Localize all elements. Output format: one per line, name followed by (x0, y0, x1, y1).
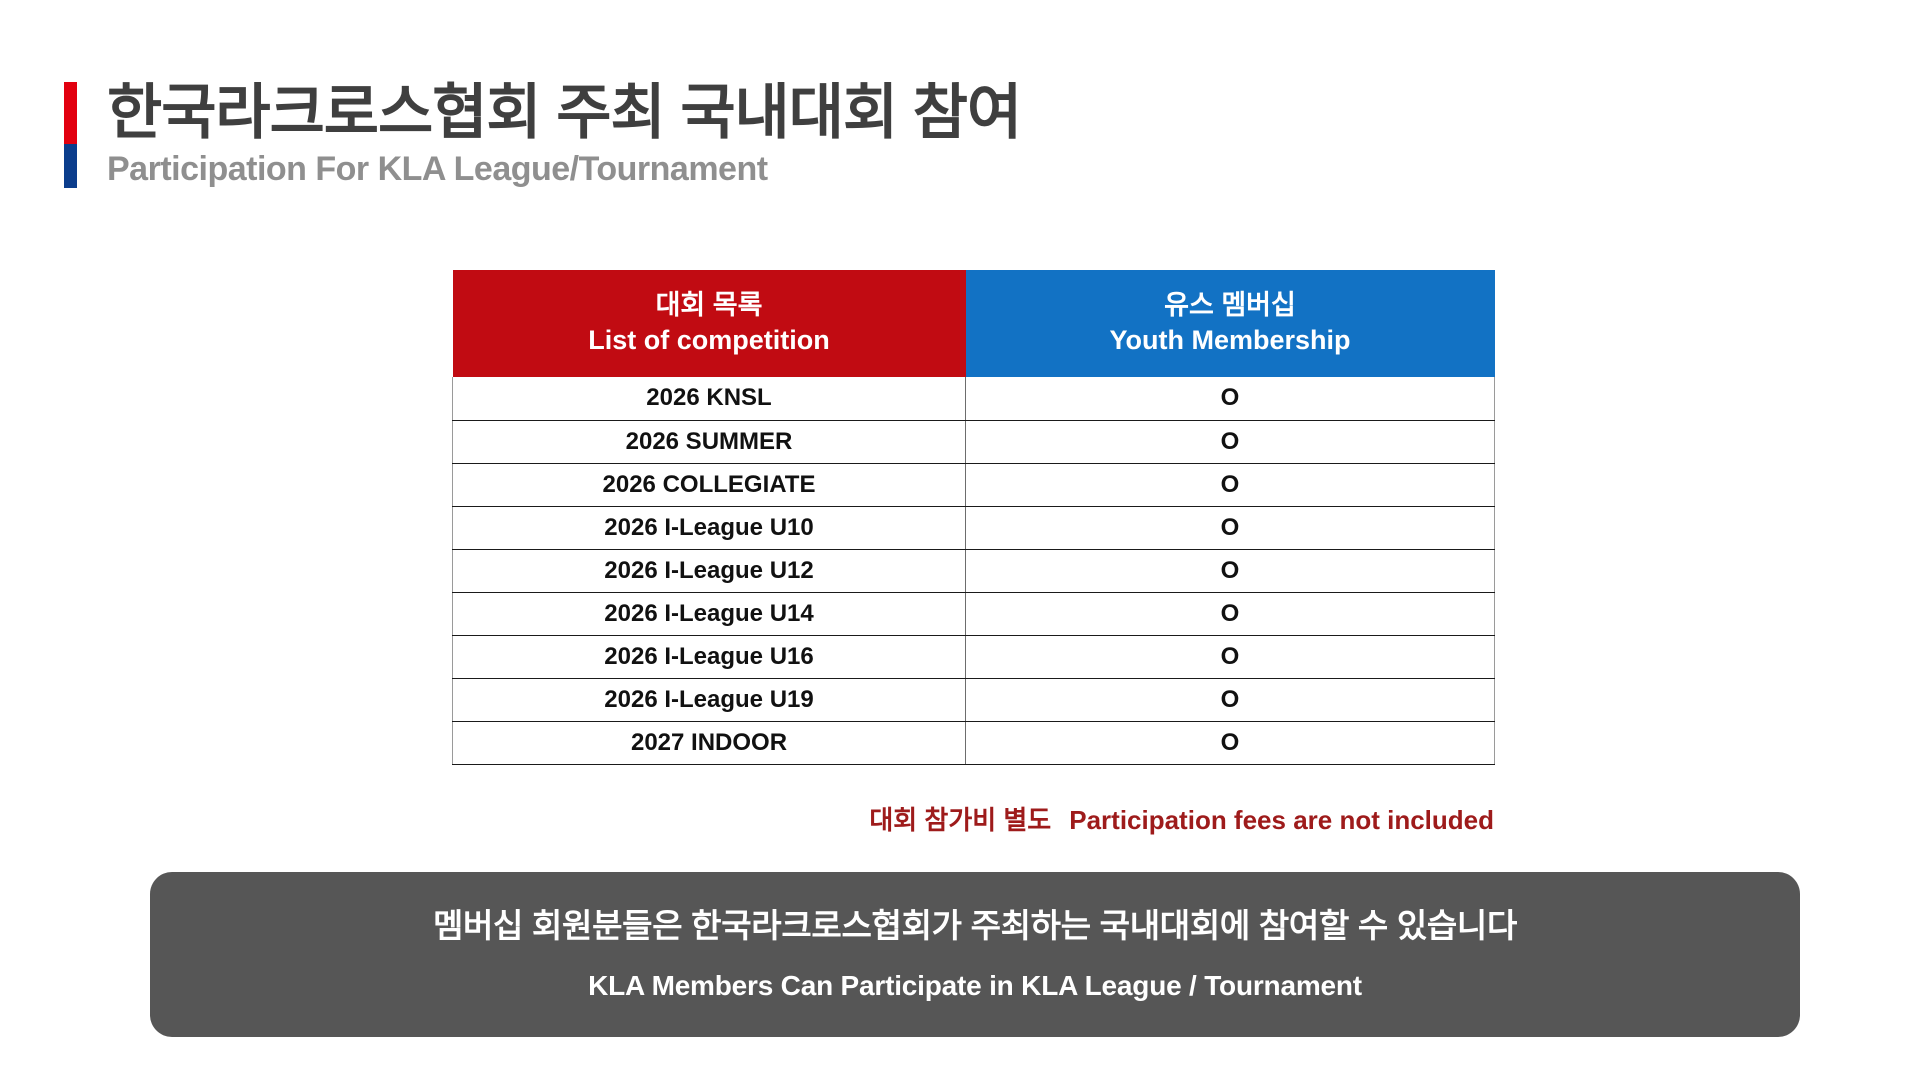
cell-youth-membership: O (966, 678, 1495, 721)
cell-competition: 2027 INDOOR (453, 721, 966, 764)
cell-competition: 2026 KNSL (453, 377, 966, 420)
table-row: 2027 INDOORO (453, 721, 1495, 764)
column-header-competition-ko: 대회 목록 (457, 288, 962, 323)
cell-competition: 2026 I-League U14 (453, 592, 966, 635)
column-header-youth-ko: 유스 멤버십 (970, 288, 1491, 323)
cell-youth-membership: O (966, 721, 1495, 764)
table-header-row: 대회 목록 List of competition 유스 멤버십 Youth M… (453, 270, 1495, 377)
cell-competition: 2026 I-League U16 (453, 635, 966, 678)
cell-competition: 2026 I-League U19 (453, 678, 966, 721)
page-subtitle: Participation For KLA League/Tournament (107, 152, 1021, 188)
cell-youth-membership: O (966, 549, 1495, 592)
footer-banner: 멤버십 회원분들은 한국라크로스협회가 주최하는 국내대회에 참여할 수 있습니… (150, 872, 1800, 1037)
cell-youth-membership: O (966, 506, 1495, 549)
footer-message-en: KLA Members Can Participate in KLA Leagu… (588, 969, 1362, 1003)
cell-youth-membership: O (966, 420, 1495, 463)
column-header-competition-en: List of competition (457, 323, 962, 358)
competition-table: 대회 목록 List of competition 유스 멤버십 Youth M… (452, 270, 1495, 765)
footnote: 대회 참가비 별도Participation fees are not incl… (452, 800, 1494, 837)
slide-title-block: 한국라크로스협회 주최 국내대회 참여 Participation For KL… (64, 82, 1021, 188)
cell-competition: 2026 COLLEGIATE (453, 463, 966, 506)
table-row: 2026 I-League U16O (453, 635, 1495, 678)
cell-youth-membership: O (966, 592, 1495, 635)
table-row: 2026 SUMMERO (453, 420, 1495, 463)
column-header-competition: 대회 목록 List of competition (453, 270, 966, 377)
footnote-en: Participation fees are not included (1069, 805, 1494, 835)
table-row: 2026 I-League U19O (453, 678, 1495, 721)
page-title: 한국라크로스협회 주최 국내대회 참여 (107, 82, 1021, 143)
column-header-youth-en: Youth Membership (970, 323, 1491, 358)
table-row: 2026 KNSLO (453, 377, 1495, 420)
table-row: 2026 COLLEGIATEO (453, 463, 1495, 506)
cell-youth-membership: O (966, 377, 1495, 420)
footer-message-ko: 멤버십 회원분들은 한국라크로스협회가 주최하는 국내대회에 참여할 수 있습니… (433, 906, 1517, 946)
title-accent-bar (64, 82, 77, 188)
accent-bar-red-segment (64, 82, 77, 144)
cell-youth-membership: O (966, 463, 1495, 506)
footnote-ko: 대회 참가비 별도 (869, 805, 1051, 835)
cell-youth-membership: O (966, 635, 1495, 678)
table-row: 2026 I-League U10O (453, 506, 1495, 549)
cell-competition: 2026 SUMMER (453, 420, 966, 463)
competition-table-container: 대회 목록 List of competition 유스 멤버십 Youth M… (452, 270, 1494, 765)
cell-competition: 2026 I-League U12 (453, 549, 966, 592)
cell-competition: 2026 I-League U10 (453, 506, 966, 549)
table-body: 2026 KNSLO2026 SUMMERO2026 COLLEGIATEO20… (453, 377, 1495, 764)
table-row: 2026 I-League U14O (453, 592, 1495, 635)
accent-bar-blue-segment (64, 144, 77, 188)
column-header-youth-membership: 유스 멤버십 Youth Membership (966, 270, 1495, 377)
table-header: 대회 목록 List of competition 유스 멤버십 Youth M… (453, 270, 1495, 377)
table-row: 2026 I-League U12O (453, 549, 1495, 592)
title-text-group: 한국라크로스협회 주최 국내대회 참여 Participation For KL… (107, 82, 1021, 188)
